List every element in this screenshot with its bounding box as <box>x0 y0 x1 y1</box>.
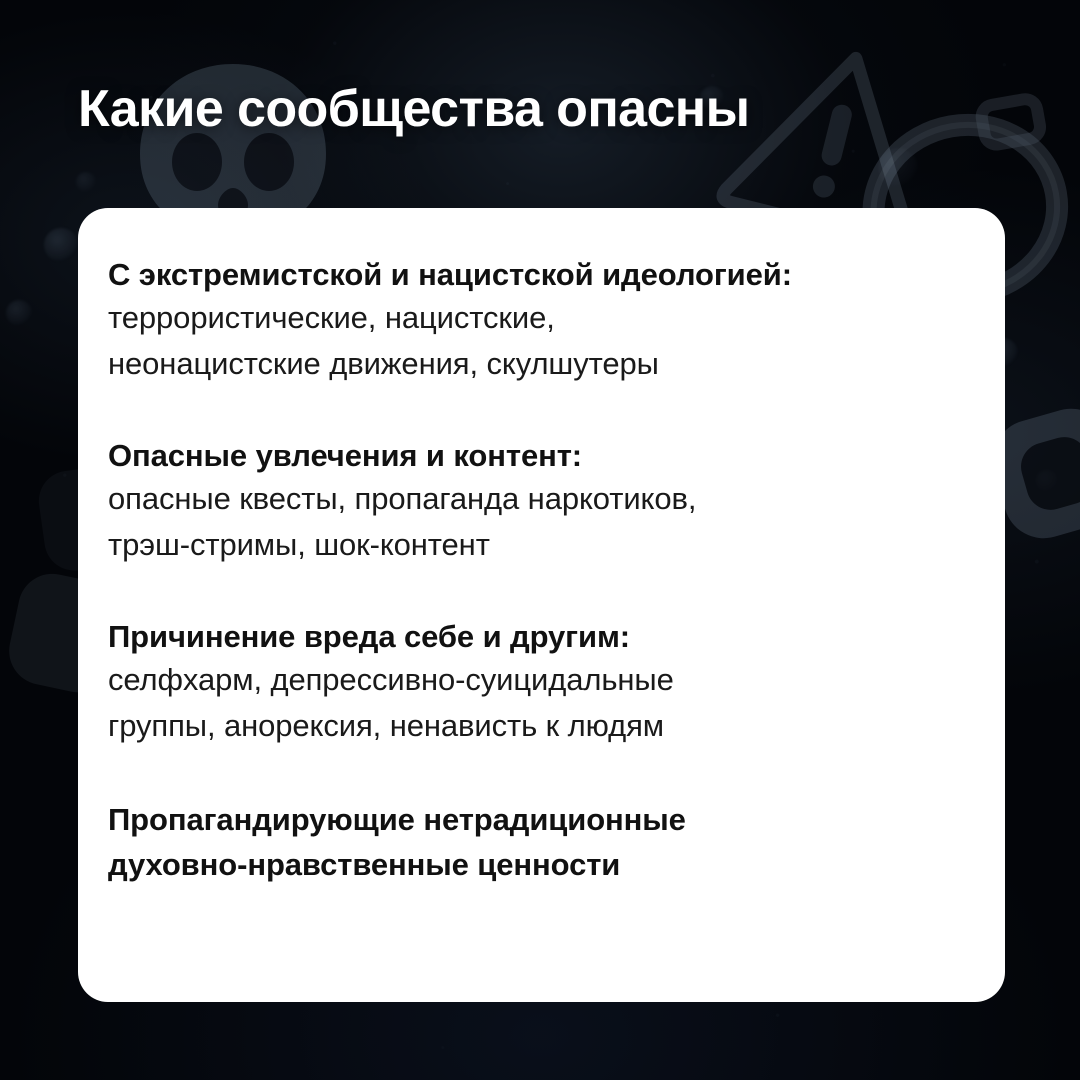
list-item: С экстремистской и нацистской идеологией… <box>108 254 969 387</box>
category-examples: террористические, нацистские, неонацистс… <box>108 295 969 387</box>
page-title: Какие сообщества опасны <box>78 78 1018 140</box>
category-examples: опасные квесты, пропаганда наркотиков, т… <box>108 476 969 568</box>
danger-category-list: С экстремистской и нацистской идеологией… <box>108 254 969 887</box>
category-heading: С экстремистской и нацистской идеологией… <box>108 254 969 295</box>
bokeh-dot <box>44 228 78 262</box>
category-heading: Опасные увлечения и контент: <box>108 435 969 476</box>
bokeh-dot <box>76 172 96 192</box>
category-examples: селфхарм, депрессивно-суицидальные групп… <box>108 657 969 749</box>
list-item: Опасные увлечения и контент: опасные кве… <box>108 435 969 568</box>
category-heading: Пропагандирующие нетрадиционные духовно-… <box>108 797 969 887</box>
bokeh-dot <box>6 300 32 326</box>
list-item: Пропагандирующие нетрадиционные духовно-… <box>108 797 969 887</box>
list-item: Причинение вреда себе и другим: селфхарм… <box>108 616 969 749</box>
content-card: С экстремистской и нацистской идеологией… <box>78 208 1005 1002</box>
infographic-slide: Какие сообщества опасны С экстремистской… <box>0 0 1080 1080</box>
category-heading: Причинение вреда себе и другим: <box>108 616 969 657</box>
